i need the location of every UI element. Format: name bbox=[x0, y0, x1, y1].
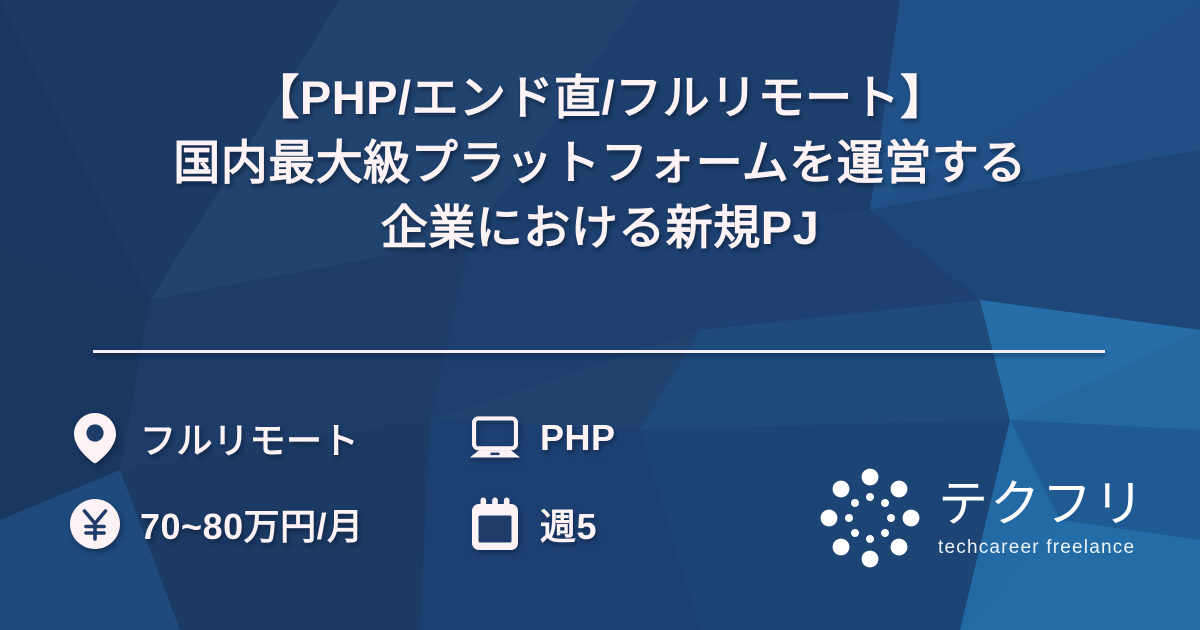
divider bbox=[93, 350, 1105, 353]
meta-item-skill: PHP bbox=[468, 411, 616, 465]
meta-item-pay: 70~80万円/月 bbox=[68, 497, 468, 551]
calendar-icon bbox=[468, 497, 522, 551]
yen-circle-icon bbox=[68, 497, 122, 551]
job-meta-list: フルリモート PHP bbox=[68, 395, 616, 567]
meta-label-skill: PHP bbox=[540, 417, 616, 459]
meta-label-location: フルリモート bbox=[140, 412, 359, 464]
meta-label-pay: 70~80万円/月 bbox=[140, 498, 364, 550]
meta-item-days: 週5 bbox=[468, 497, 616, 551]
brand-logo: テクフリ techcareer freelance bbox=[818, 466, 1146, 570]
laptop-icon bbox=[468, 411, 522, 465]
logo-tagline: techcareer freelance bbox=[938, 538, 1135, 557]
logo-wordmark: テクフリ bbox=[938, 479, 1146, 529]
meta-label-days: 週5 bbox=[540, 498, 597, 550]
title-line-2: 国内最大級プラットフォームを運営する bbox=[0, 131, 1200, 196]
job-card: 【PHP/エンド直/フルリモート】 国内最大級プラットフォームを運営する 企業に… bbox=[0, 0, 1200, 630]
dot-cluster-icon bbox=[818, 466, 922, 570]
location-pin-icon bbox=[68, 411, 122, 465]
page-title: 【PHP/エンド直/フルリモート】 国内最大級プラットフォームを運営する 企業に… bbox=[0, 66, 1200, 261]
title-line-3: 企業における新規PJ bbox=[0, 196, 1200, 261]
logo-text-block: テクフリ techcareer freelance bbox=[938, 479, 1146, 557]
title-line-1: 【PHP/エンド直/フルリモート】 bbox=[0, 66, 1200, 131]
meta-item-location: フルリモート bbox=[68, 411, 468, 465]
